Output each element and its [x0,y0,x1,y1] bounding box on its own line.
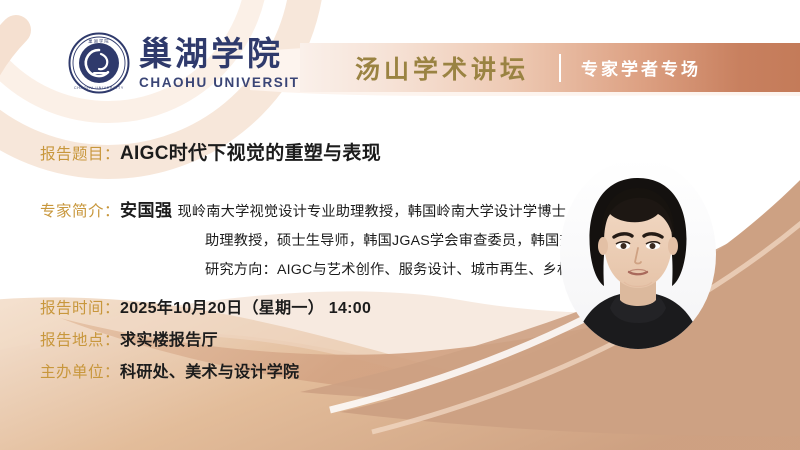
organizer-label: 主办单位： [40,360,120,382]
report-time-value: 2025年10月20日（星期一） 14:00 [120,294,371,318]
organizer-row: 主办单位： 科研处、美术与设计学院 [40,358,299,382]
speaker-portrait-image [558,158,718,350]
report-time-label: 报告时间： [40,296,120,318]
report-place-value: 求实楼报告厅 [120,326,218,350]
report-title-label: 报告题目： [40,142,120,164]
speaker-portrait [558,158,718,350]
bio-text-3: 研究方向：AIGC与艺术创作、服务设计、城市再生、乡村振兴。 [205,259,615,279]
report-place-label: 报告地点： [40,328,120,350]
report-title-value: AIGC时代下视觉的重塑与表现 [120,138,381,165]
speaker-bio-label: 专家简介： [40,199,120,221]
report-time-row: 报告时间： 2025年10月20日（星期一） 14:00 [40,294,371,318]
bio-text-1: 现岭南大学视觉设计专业助理教授，韩国岭南大学设计学博士， [178,201,581,221]
seminar-poster: 巢湖学院 CHAOHU UNIVERSITY 巢湖学院 CHAOHU UNIVE… [0,0,800,450]
report-place-row: 报告地点： 求实楼报告厅 [40,326,218,350]
speaker-name: 安国强 [120,196,173,221]
organizer-value: 科研处、美术与设计学院 [120,358,299,382]
report-title-row: 报告题目： AIGC时代下视觉的重塑与表现 [40,138,381,165]
